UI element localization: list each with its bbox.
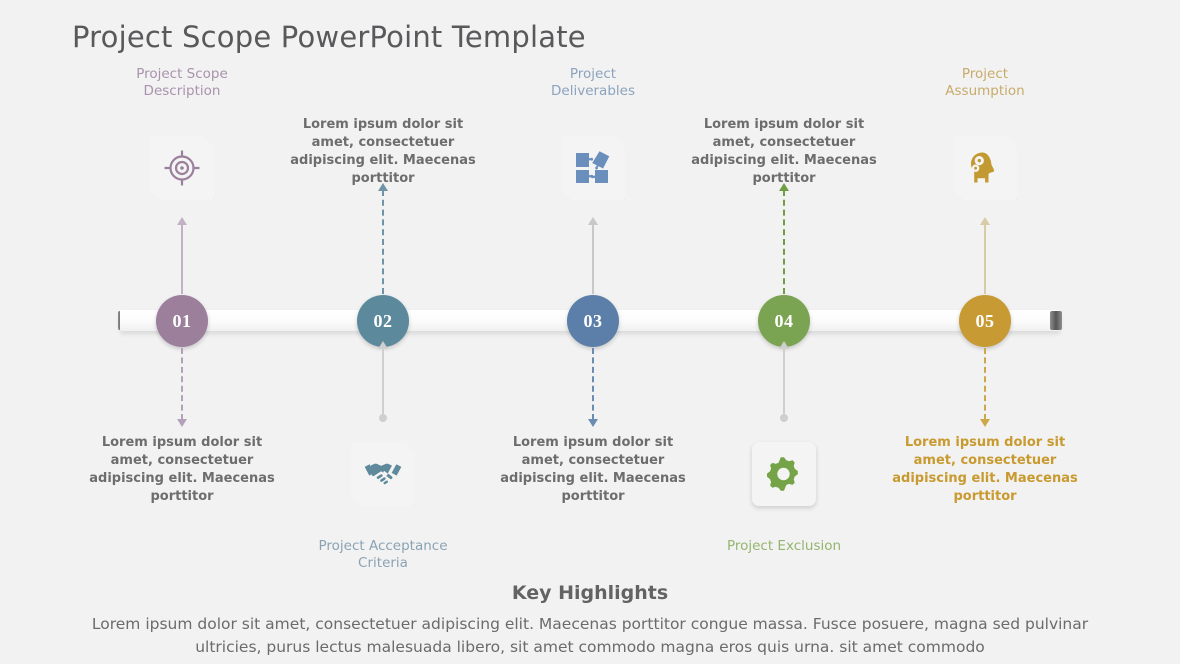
node-caption-01: Project ScopeDescription [72,66,292,100]
target-icon [162,148,202,188]
node-caption-05: ProjectAssumption [875,66,1095,100]
arrow-head-down-icon [588,419,598,427]
node-description-02: Lorem ipsum dolor sit amet, consectetuer… [280,116,486,188]
caption-line: Project Exclusion [674,538,894,555]
caption-line: Project Acceptance [273,538,493,555]
arrow-head-down-icon [980,419,990,427]
node-description-03: Lorem ipsum dolor sit amet, consectetuer… [490,434,696,506]
node-number: 02 [374,311,393,332]
gear-icon [764,454,804,494]
node-number: 03 [584,311,603,332]
caption-line: Project Scope [72,66,292,83]
node-caption-02: Project AcceptanceCriteria [273,538,493,572]
node-number: 05 [976,311,995,332]
key-highlights-heading: Key Highlights [0,582,1180,604]
timeline-node-01[interactable]: 01 [156,295,208,347]
arrow-head-up-icon [779,341,789,349]
node-number: 01 [173,311,192,332]
node-description-01: Lorem ipsum dolor sit amet, consectetuer… [79,434,285,506]
caption-line: Project [875,66,1095,83]
slide-canvas: Project Scope PowerPoint Template 01Proj… [0,0,1180,664]
arrow-head-up-icon [980,217,990,225]
puzzle-icon [574,149,612,187]
icon-card-01[interactable] [150,136,214,200]
node-caption-03: ProjectDeliverables [483,66,703,100]
timeline-end-cap-right [1050,311,1062,330]
icon-card-02[interactable] [351,442,415,506]
caption-line: Project [483,66,703,83]
arrow-head-up-icon [588,217,598,225]
connector-end-dot [780,414,788,422]
caption-line: Criteria [273,555,493,572]
timeline-node-03[interactable]: 03 [567,295,619,347]
node-description-04: Lorem ipsum dolor sit amet, consectetuer… [681,116,887,188]
icon-card-03[interactable] [561,136,625,200]
timeline-node-04[interactable]: 04 [758,295,810,347]
timeline-node-05[interactable]: 05 [959,295,1011,347]
icon-card-04[interactable] [752,442,816,506]
page-title: Project Scope PowerPoint Template [72,20,586,54]
arrow-head-up-icon [378,341,388,349]
caption-line: Description [72,83,292,100]
timeline-node-02[interactable]: 02 [357,295,409,347]
node-description-05: Lorem ipsum dolor sit amet, consectetuer… [882,434,1088,506]
key-highlights-body: Lorem ipsum dolor sit amet, consectetuer… [62,613,1118,659]
arrow-head-down-icon [177,419,187,427]
icon-card-05[interactable] [953,136,1017,200]
arrow-head-up-icon [177,217,187,225]
caption-line: Assumption [875,83,1095,100]
arrow-head-up-icon [779,183,789,191]
connector-end-dot [379,414,387,422]
arrow-head-up-icon [378,183,388,191]
head-gears-icon [965,148,1005,188]
node-number: 04 [775,311,794,332]
node-caption-04: Project Exclusion [674,538,894,555]
handshake-icon [363,459,403,489]
caption-line: Deliverables [483,83,703,100]
